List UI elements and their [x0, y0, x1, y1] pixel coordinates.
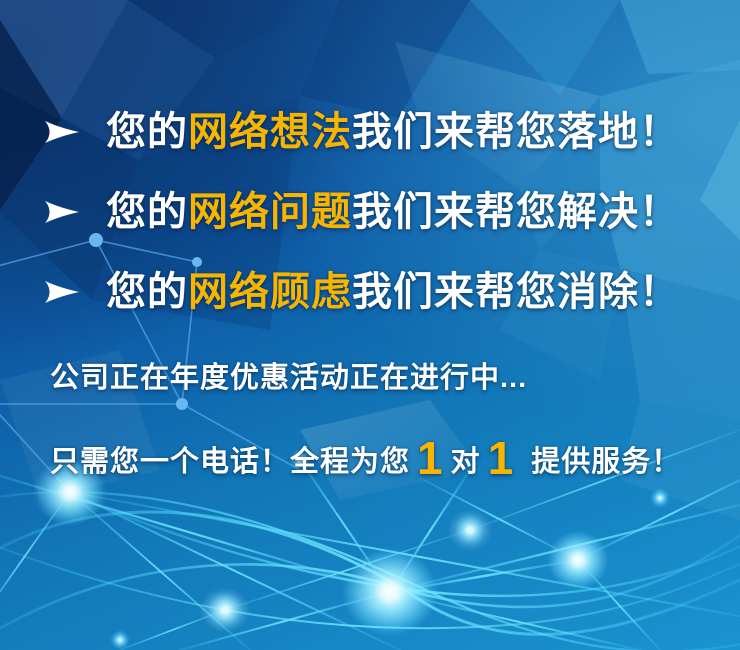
service-number-second: 1: [481, 435, 522, 481]
headline-prefix-1: 您的: [106, 110, 188, 154]
headline-row-1: 您的网络想法我们来帮您落地！: [42, 104, 680, 160]
headline-highlight-2: 网络问题: [188, 190, 352, 234]
headline-suffix-1: 我们来帮您落地！: [352, 110, 680, 154]
headline-prefix-2: 您的: [106, 190, 188, 234]
headline-text-2: 您的网络问题我们来帮您解决！: [106, 192, 680, 232]
headline-row-2: 您的网络问题我们来帮您解决！: [42, 184, 680, 240]
headline-text-1: 您的网络想法我们来帮您落地！: [106, 112, 680, 152]
headline-prefix-3: 您的: [106, 270, 188, 314]
service-prefix: 只需您一个电话！全程为您: [50, 448, 410, 477]
banner-content: 您的网络想法我们来帮您落地！ 您的网络问题我们来帮您解决！ 您的网络顾虑我们来帮…: [0, 0, 740, 650]
promo-subline: 公司正在年度优惠活动正在进行中...: [50, 364, 527, 393]
headline-highlight-3: 网络顾虑: [188, 270, 352, 314]
service-suffix: 提供服务！: [531, 448, 681, 477]
headline-text-3: 您的网络顾虑我们来帮您消除！: [106, 272, 680, 312]
headline-highlight-1: 网络想法: [188, 110, 352, 154]
arrow-right-icon: [42, 277, 82, 307]
promo-banner: 您的网络想法我们来帮您落地！ 您的网络问题我们来帮您解决！ 您的网络顾虑我们来帮…: [0, 0, 740, 650]
headline-row-3: 您的网络顾虑我们来帮您消除！: [42, 264, 680, 320]
arrow-right-icon: [42, 117, 82, 147]
service-middle: 对: [451, 448, 481, 477]
service-subline: 只需您一个电话！全程为您1对1提供服务！: [50, 432, 681, 478]
headline-suffix-3: 我们来帮您消除！: [352, 270, 680, 314]
service-number-first: 1: [410, 435, 451, 481]
arrow-right-icon: [42, 197, 82, 227]
headline-suffix-2: 我们来帮您解决！: [352, 190, 680, 234]
